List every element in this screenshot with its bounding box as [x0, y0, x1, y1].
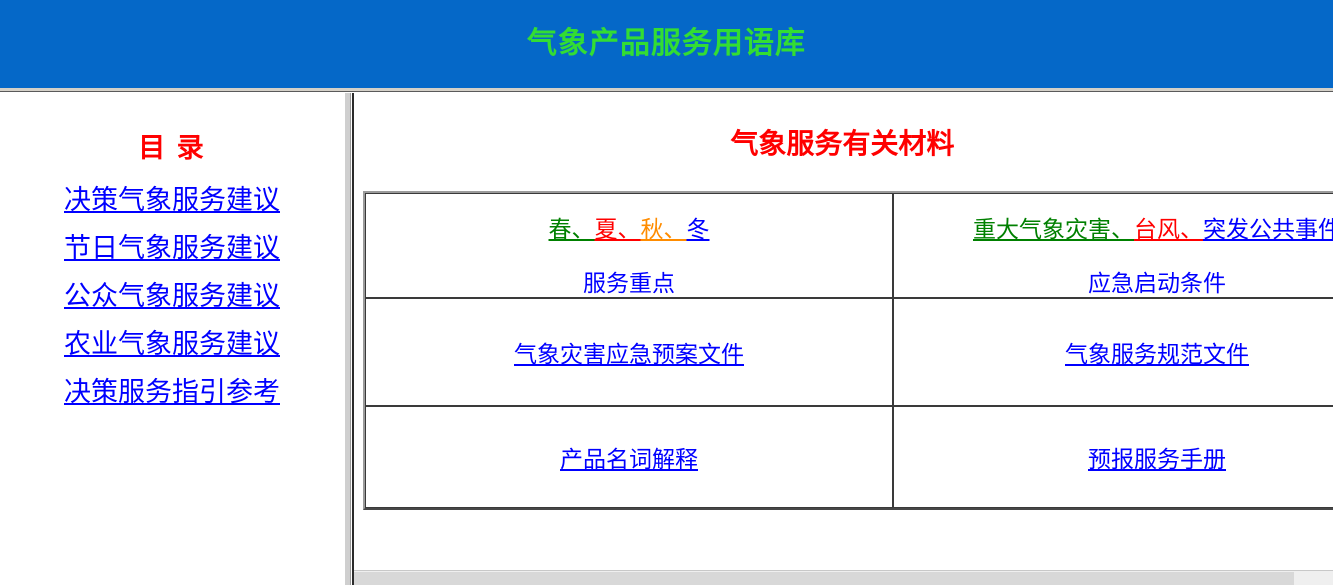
page-title: 气象产品服务用语库 [527, 29, 806, 59]
page-root: 气象产品服务用语库 目 录 决策气象服务建议 节日气象服务建议 公众气象服务建议… [0, 0, 1333, 585]
table-cell-glossary: 产品名词解释 [365, 406, 893, 508]
sidebar-item-agricultural-weather-service[interactable]: 农业气象服务建议 [64, 329, 280, 359]
main-frame: 气象服务有关材料 春、夏、秋、冬 服务重点 [354, 93, 1333, 585]
season-summer-link[interactable]: 夏、 [595, 217, 641, 242]
season-winter-link[interactable]: 冬 [687, 217, 710, 242]
sidebar-item: 决策服务指引参考 [0, 368, 344, 416]
sidebar-frame: 目 录 决策气象服务建议 节日气象服务建议 公众气象服务建议 农业气象服务建议 … [0, 93, 344, 585]
typhoon-link[interactable]: 台风、 [1134, 217, 1203, 242]
sidebar-heading: 目 录 [0, 135, 344, 162]
sidebar-item: 农业气象服务建议 [0, 320, 344, 368]
season-spring-link[interactable]: 春、 [549, 217, 595, 242]
sidebar-item: 节日气象服务建议 [0, 224, 344, 272]
cell-content: 春、夏、秋、冬 服务重点 [366, 194, 892, 297]
season-autumn-link[interactable]: 秋、 [641, 217, 687, 242]
sidebar-item: 决策气象服务建议 [0, 176, 344, 224]
table-row: 春、夏、秋、冬 服务重点 重大气象灾害、台风、突发公共事件 应急启动条件 [365, 193, 1333, 298]
product-glossary-link[interactable]: 产品名词解释 [560, 440, 698, 474]
disaster-emergency-plan-link[interactable]: 气象灾害应急预案文件 [514, 335, 744, 369]
materials-table: 春、夏、秋、冬 服务重点 重大气象灾害、台风、突发公共事件 应急启动条件 [363, 191, 1333, 510]
table-cell-disaster-plan: 气象灾害应急预案文件 [365, 298, 893, 406]
cell-content: 预报服务手册 [894, 407, 1333, 507]
major-weather-disaster-link[interactable]: 重大气象灾害、 [973, 217, 1134, 242]
sidebar-item-holiday-weather-service[interactable]: 节日气象服务建议 [64, 233, 280, 263]
seasons-link-group[interactable]: 春、夏、秋、冬 [549, 224, 710, 241]
table-row: 气象灾害应急预案文件 气象服务规范文件 [365, 298, 1333, 406]
horizontal-scrollbar-thumb[interactable] [354, 572, 1294, 585]
main-heading: 气象服务有关材料 [354, 130, 1333, 158]
emergency-link-group[interactable]: 重大气象灾害、台风、突发公共事件 [973, 224, 1333, 241]
forecast-service-manual-link[interactable]: 预报服务手册 [1088, 440, 1226, 474]
weather-service-standard-link[interactable]: 气象服务规范文件 [1065, 335, 1249, 369]
table-row: 产品名词解释 预报服务手册 [365, 406, 1333, 508]
sidebar-item-decision-service-guide[interactable]: 决策服务指引参考 [64, 377, 280, 407]
banner-divider [0, 88, 1333, 92]
table-cell-forecast-manual: 预报服务手册 [893, 406, 1333, 508]
frame-splitter[interactable] [344, 93, 351, 585]
seasons-sub-label: 服务重点 [374, 264, 884, 298]
sidebar-list: 决策气象服务建议 节日气象服务建议 公众气象服务建议 农业气象服务建议 决策服务… [0, 176, 344, 416]
cell-content: 产品名词解释 [366, 407, 892, 507]
cell-content: 气象服务规范文件 [894, 299, 1333, 405]
sidebar-item-decision-weather-service[interactable]: 决策气象服务建议 [64, 185, 280, 215]
emergency-sub-label: 应急启动条件 [902, 264, 1333, 298]
cell-content: 气象灾害应急预案文件 [366, 299, 892, 405]
horizontal-scrollbar[interactable] [354, 570, 1333, 585]
sidebar-item: 公众气象服务建议 [0, 272, 344, 320]
cell-content: 重大气象灾害、台风、突发公共事件 应急启动条件 [894, 194, 1333, 297]
public-emergency-event-link[interactable]: 突发公共事件 [1203, 217, 1333, 242]
sidebar-item-public-weather-service[interactable]: 公众气象服务建议 [64, 281, 280, 311]
table-cell-service-standard: 气象服务规范文件 [893, 298, 1333, 406]
table-cell-emergency: 重大气象灾害、台风、突发公共事件 应急启动条件 [893, 193, 1333, 298]
page-banner: 气象产品服务用语库 [0, 0, 1333, 88]
table-cell-seasons: 春、夏、秋、冬 服务重点 [365, 193, 893, 298]
